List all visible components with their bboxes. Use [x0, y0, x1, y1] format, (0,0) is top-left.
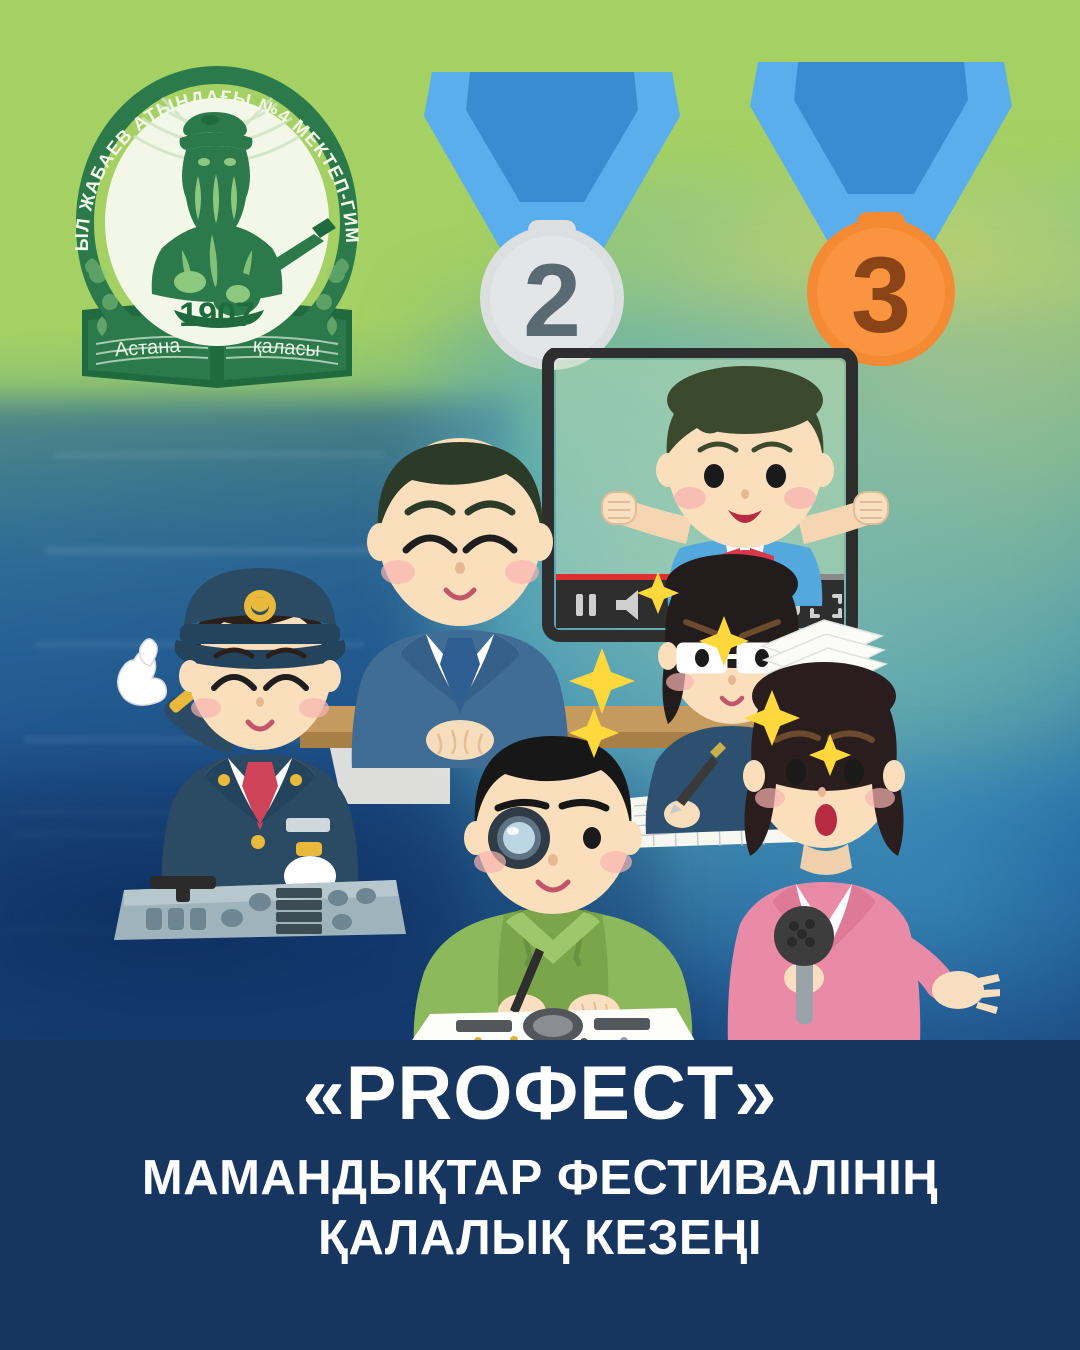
- conductor-cap: [175, 568, 346, 669]
- medal-second-place: 2: [424, 62, 680, 374]
- school-logo: 1907 Астана қаласы ЖАМБЫЛ ЖАБАЕВ АТЫНДАҒ…: [62, 58, 372, 394]
- logo-book-right-text: қаласы: [252, 335, 320, 362]
- control-panel: [114, 876, 406, 940]
- sparkle-icon: [569, 572, 851, 776]
- medal-number-2: 2: [523, 243, 581, 359]
- logo-year: 1907: [179, 296, 255, 334]
- sparkle-decorations: [560, 530, 860, 830]
- poster-canvas: 1907 Астана қаласы ЖАМБЫЛ ЖАБАЕВ АТЫНДАҒ…: [0, 0, 1080, 1350]
- footer-banner: «PROФECT» МАМАНДЫҚТАР ФЕСТИВАЛІНІҢ ҚАЛАЛ…: [0, 1040, 1080, 1350]
- open-hand: [932, 971, 1000, 1014]
- medal-third-place: 3: [750, 52, 1012, 370]
- festival-title: «PROФECT»: [302, 1054, 777, 1133]
- festival-subtitle-line-1: МАМАНДЫҚТАР ФЕСТИВАЛІНІҢ: [142, 1149, 938, 1209]
- medal-number-3: 3: [851, 234, 911, 355]
- pointing-glove: [118, 639, 167, 705]
- logo-book-left-text: Астана: [114, 335, 182, 362]
- figure-train-conductor: [110, 540, 410, 940]
- festival-subtitle: МАМАНДЫҚТАР ФЕСТИВАЛІНІҢ ҚАЛАЛЫҚ КЕЗЕҢІ: [142, 1149, 938, 1269]
- festival-subtitle-line-2: ҚАЛАЛЫҚ КЕЗЕҢІ: [142, 1209, 938, 1269]
